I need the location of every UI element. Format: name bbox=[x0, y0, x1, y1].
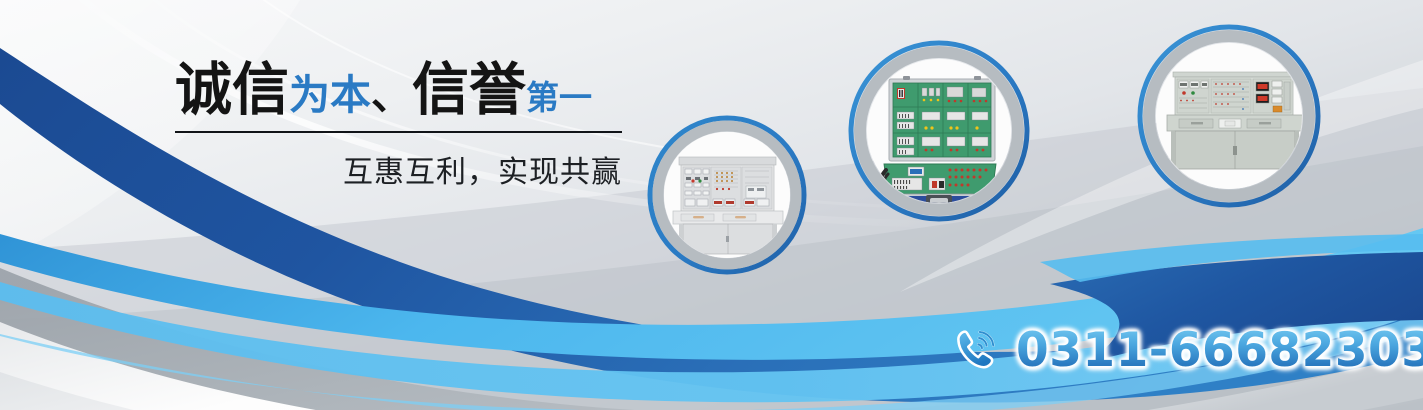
headline-punctuation: 、 bbox=[371, 71, 412, 119]
contact-phone-row[interactable]: 0311-66682303 bbox=[952, 326, 1423, 374]
headline-block: 诚信为本、信誉第一 互惠互利，实现共赢 bbox=[175, 62, 635, 191]
headline-part-4: 第一 bbox=[526, 78, 592, 117]
phone-handset-icon bbox=[952, 326, 1000, 374]
phone-number[interactable]: 0311-66682303 bbox=[1016, 327, 1423, 374]
headline-part-3: 信誉 bbox=[412, 57, 526, 123]
headline-part-1: 诚信 bbox=[175, 57, 289, 123]
headline-part-2: 为本 bbox=[289, 71, 371, 119]
subtitle: 互惠互利，实现共赢 bbox=[175, 133, 622, 191]
product-circle-3[interactable] bbox=[1135, 22, 1323, 210]
product-circle-2[interactable] bbox=[846, 38, 1032, 224]
promo-banner: 诚信为本、信誉第一 互惠互利，实现共赢 bbox=[0, 0, 1423, 410]
product-image-3 bbox=[1156, 43, 1303, 189]
headline: 诚信为本、信誉第一 bbox=[175, 62, 635, 119]
product-circle-1[interactable] bbox=[645, 113, 809, 277]
product-image-1 bbox=[664, 132, 790, 259]
